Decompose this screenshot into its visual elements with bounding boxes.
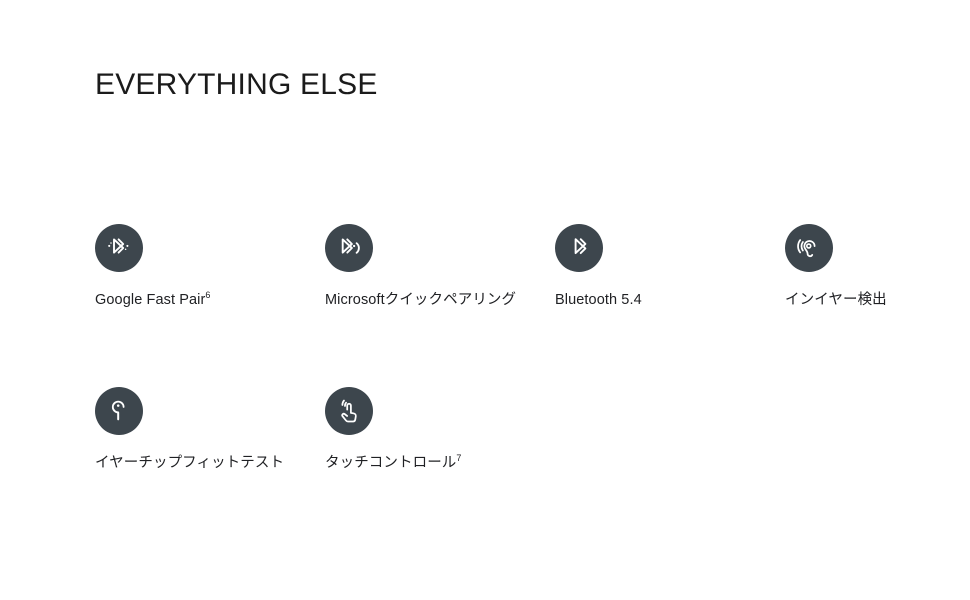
feature-label: イヤーチップフィットテスト xyxy=(95,455,299,472)
page-title: EVERYTHING ELSE xyxy=(95,68,378,102)
feature-label: タッチコントロール7 xyxy=(325,455,529,472)
feature-label: Bluetooth 5.4 xyxy=(555,292,759,309)
bluetooth-fast-pair-icon xyxy=(95,224,143,272)
feature-item-in-ear-detection: インイヤー検出 xyxy=(785,224,970,309)
feature-item-microsoft-swift-pair: Microsoftクイックペアリング xyxy=(325,224,555,309)
eartip-fit-test-icon xyxy=(95,387,143,435)
feature-row: イヤーチップフィットテスト タッチコントロール7 xyxy=(95,387,915,472)
feature-item-touch-control: タッチコントロール7 xyxy=(325,387,555,472)
touch-control-icon xyxy=(325,387,373,435)
everything-else-section: EVERYTHING ELSE xyxy=(0,0,970,600)
feature-item-google-fast-pair: Google Fast Pair6 xyxy=(95,224,325,309)
feature-item-bluetooth: Bluetooth 5.4 xyxy=(555,224,785,309)
bluetooth-icon xyxy=(555,224,603,272)
feature-label: インイヤー検出 xyxy=(785,292,970,309)
bluetooth-swift-pair-icon xyxy=(325,224,373,272)
feature-label: Google Fast Pair6 xyxy=(95,292,299,309)
feature-label: Microsoftクイックペアリング xyxy=(325,292,529,309)
feature-item-eartip-fit-test: イヤーチップフィットテスト xyxy=(95,387,325,472)
ear-detection-icon xyxy=(785,224,833,272)
feature-row: Google Fast Pair6 Microsoftクイックペアリング xyxy=(95,224,915,309)
feature-grid: Google Fast Pair6 Microsoftクイックペアリング xyxy=(95,224,915,471)
